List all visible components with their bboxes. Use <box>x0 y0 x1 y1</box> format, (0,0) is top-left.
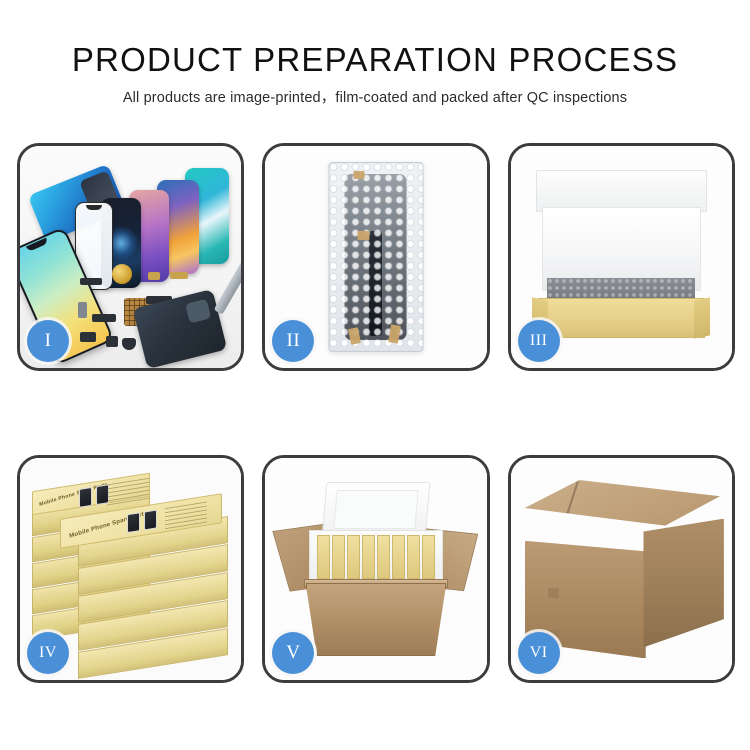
open-mailer-box-icon <box>527 170 716 338</box>
part-icon <box>122 338 136 350</box>
bubble-wrap-bag-icon <box>328 162 423 352</box>
carton-front-panel-icon <box>306 583 447 657</box>
part-icon <box>80 332 96 342</box>
box-spec-lines <box>165 501 207 530</box>
bubble-texture-overlay <box>329 163 422 351</box>
step-badge-3: III <box>518 320 560 362</box>
box-thumbnails <box>127 509 157 533</box>
box-base-icon <box>538 298 705 338</box>
page-subtitle: All products are image-printed，film-coat… <box>0 88 750 108</box>
gold-coil-icon <box>112 264 132 284</box>
inner-box-icon <box>362 535 375 579</box>
carton-right-face <box>642 519 724 648</box>
process-steps-grid: I II <box>17 143 735 683</box>
part-icon <box>92 314 116 322</box>
step-badge-4: IV <box>27 632 69 674</box>
tweezers-icon <box>214 261 244 314</box>
part-icon <box>80 278 102 285</box>
carton-tape-icon <box>548 588 559 599</box>
sealed-carton-icon <box>525 480 720 664</box>
open-carton-icon <box>283 478 468 662</box>
step-badge-1: I <box>27 320 69 362</box>
step-panel-1[interactable]: I <box>17 143 244 371</box>
box-stack-front-column <box>78 528 228 668</box>
part-icon <box>78 302 87 318</box>
step-panel-6[interactable]: VI <box>508 455 735 683</box>
box-thumb-icon <box>144 509 157 530</box>
header: PRODUCT PREPARATION PROCESS All products… <box>0 40 750 108</box>
tape-icon <box>357 231 369 240</box>
inner-box-icon <box>377 535 390 579</box>
part-icon <box>106 336 118 347</box>
carton-seam-line <box>566 481 579 518</box>
step-panel-4[interactable]: Mobile Phone Spare Parts <box>17 455 244 683</box>
part-icon <box>148 272 160 280</box>
step-panel-2[interactable]: II <box>262 143 489 371</box>
box-thumb-icon <box>79 487 92 508</box>
step-badge-6: VI <box>518 632 560 674</box>
inner-box-icon <box>407 535 420 579</box>
step-panel-5[interactable]: V <box>262 455 489 683</box>
inner-box-icon <box>332 535 345 579</box>
page-title: PRODUCT PREPARATION PROCESS <box>0 40 750 80</box>
part-icon <box>170 272 188 279</box>
tape-icon <box>354 171 365 179</box>
box-lid-icon <box>536 170 706 212</box>
box-thumb-icon <box>127 512 140 533</box>
inner-boxes-row <box>317 535 436 579</box>
inner-box-icon <box>392 535 405 579</box>
product-preparation-infographic: PRODUCT PREPARATION PROCESS All products… <box>0 0 750 750</box>
step-panel-3[interactable]: III <box>508 143 735 371</box>
inner-box-icon <box>422 535 435 579</box>
inner-box-icon <box>347 535 360 579</box>
inner-box-icon <box>317 535 330 579</box>
